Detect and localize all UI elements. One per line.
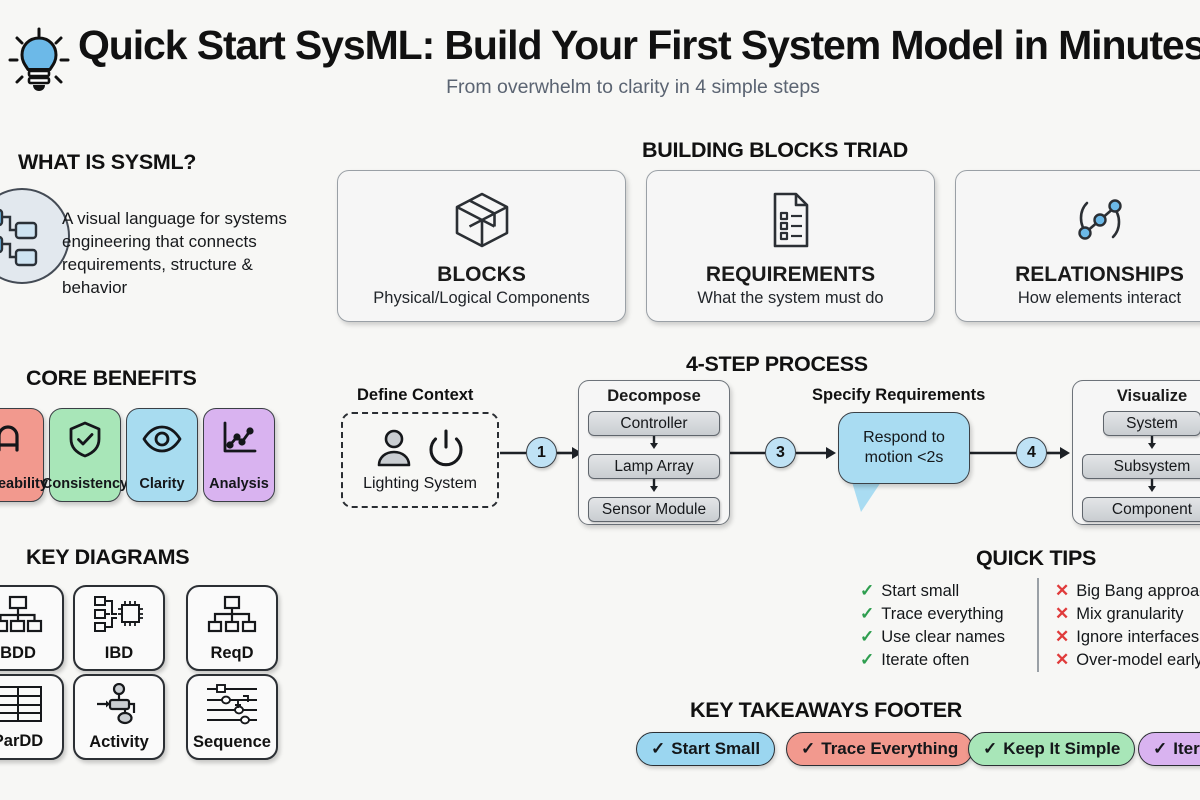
person-icon: [375, 428, 413, 473]
building-blocks-triad-heading: BUILDING BLOCKS TRIAD: [642, 138, 908, 163]
requirement-speech-bubble[interactable]: Respond to motion <2s: [838, 412, 970, 484]
page-subtitle: From overwhelm to clarity in 4 simple st…: [78, 76, 1188, 99]
chart-trend-icon: [218, 419, 260, 464]
step-badge-1[interactable]: 1: [526, 437, 557, 468]
triad-card-subtitle: Physical/Logical Components: [373, 289, 589, 308]
triad-card-title: BLOCKS: [437, 263, 526, 287]
cross-icon: ✕: [1055, 628, 1069, 645]
step3-caption: Specify Requirements: [812, 386, 985, 405]
benefit-label: Analysis: [209, 476, 269, 492]
process-heading: 4-STEP PROCESS: [686, 352, 868, 377]
tip-do-item: ✓ Start small: [860, 582, 1005, 605]
diagram-card-activity[interactable]: Activity: [73, 674, 165, 760]
tip-text: Over-model early: [1076, 651, 1200, 670]
cross-icon: ✕: [1055, 651, 1069, 668]
check-icon: ✓: [860, 628, 874, 645]
diagram-card-pardd[interactable]: ParDD: [0, 674, 64, 760]
check-icon: ✓: [860, 582, 874, 599]
check-icon: ✓: [801, 739, 815, 759]
eye-icon: [141, 419, 183, 464]
benefit-label: Clarity: [139, 476, 184, 492]
triad-card-blocks[interactable]: BLOCKS Physical/Logical Components: [337, 170, 626, 322]
step-badge-4[interactable]: 4: [1016, 437, 1047, 468]
triad-card-subtitle: What the system must do: [697, 289, 883, 308]
down-arrow-icon: [647, 436, 661, 449]
tip-text: Mix granularity: [1076, 605, 1183, 624]
cross-icon: ✕: [1055, 582, 1069, 599]
visualize-item[interactable]: Component: [1082, 497, 1200, 522]
lightbulb-icon: [2, 24, 76, 103]
context-label: Lighting System: [363, 475, 477, 493]
diagram-label: ParDD: [0, 732, 43, 751]
takeaway-label: Trace Everything: [821, 739, 958, 759]
tip-text: Use clear names: [881, 628, 1005, 647]
check-icon: ✓: [1153, 739, 1167, 759]
tip-do-item: ✓ Iterate often: [860, 651, 1005, 674]
bubble-line-1: Respond to: [863, 429, 945, 446]
takeaway-pill-keep-it-simple[interactable]: ✓ Keep It Simple: [968, 732, 1135, 766]
key-takeaways-heading: KEY TAKEAWAYS FOOTER: [690, 698, 962, 723]
bubble-line-2: motion <2s: [865, 449, 944, 466]
page-title: Quick Start SysML: Build Your First Syst…: [78, 22, 1200, 69]
decompose-item[interactable]: Lamp Array: [588, 454, 720, 479]
takeaway-pill-iterate[interactable]: ✓ Iterate: [1138, 732, 1200, 766]
power-icon: [427, 428, 465, 473]
tip-dont-item: ✕ Ignore interfaces: [1055, 628, 1200, 651]
quick-tips-heading: QUICK TIPS: [976, 546, 1096, 571]
tip-text: Trace everything: [881, 605, 1003, 624]
step-badge-3[interactable]: 3: [765, 437, 796, 468]
activity-flow-icon: [92, 683, 146, 730]
takeaway-label: Keep It Simple: [1003, 739, 1120, 759]
tip-do-item: ✓ Use clear names: [860, 628, 1005, 651]
diagram-card-bdd[interactable]: BDD: [0, 585, 64, 671]
diagram-card-sequence[interactable]: Sequence: [186, 674, 278, 760]
benefit-card-traceability[interactable]: Traceability: [0, 408, 44, 502]
nodes-link-icon: [1069, 189, 1131, 256]
infographic-canvas: Quick Start SysML: Build Your First Syst…: [0, 0, 1200, 800]
benefit-label: Traceability: [0, 476, 48, 492]
cube-icon: [451, 189, 513, 256]
tip-text: Iterate often: [881, 651, 969, 670]
tip-text: Ignore interfaces: [1076, 628, 1199, 647]
triad-card-relationships[interactable]: RELATIONSHIPS How elements interact: [955, 170, 1200, 322]
core-benefits-heading: CORE BENEFITS: [26, 366, 197, 391]
diagram-label: ReqD: [210, 644, 253, 663]
triad-card-requirements[interactable]: REQUIREMENTS What the system must do: [646, 170, 935, 322]
what-is-sysml-heading: WHAT IS SYSML?: [18, 150, 196, 175]
takeaway-pill-trace-everything[interactable]: ✓ Trace Everything: [786, 732, 973, 766]
diagram-card-ibd[interactable]: IBD: [73, 585, 165, 671]
diagram-label: IBD: [105, 644, 133, 663]
visualize-item[interactable]: System: [1103, 411, 1200, 436]
diagram-label: BDD: [0, 644, 36, 663]
down-arrow-icon: [647, 479, 661, 492]
internal-block-icon: [92, 594, 146, 641]
check-icon: ✓: [651, 739, 665, 759]
tips-divider: [1037, 578, 1039, 672]
diagram-label: Activity: [89, 733, 149, 752]
decompose-box[interactable]: Decompose Controller Lamp Array Sensor M…: [578, 380, 730, 525]
tip-text: Big Bang approach: [1076, 582, 1200, 601]
speech-bubble-tail: [852, 482, 881, 512]
cross-icon: ✕: [1055, 605, 1069, 622]
what-is-sysml-body: A visual language for systems engineerin…: [62, 207, 302, 299]
magnet-icon: [0, 419, 28, 464]
requirement-tree-icon: [205, 594, 259, 641]
step1-caption: Define Context: [357, 386, 473, 405]
takeaway-label: Iterate: [1173, 739, 1200, 759]
tip-dont-item: ✕ Over-model early: [1055, 651, 1200, 674]
tips-dont-list: ✕ Big Bang approach ✕ Mix granularity ✕ …: [1055, 582, 1200, 674]
tip-do-item: ✓ Trace everything: [860, 605, 1005, 628]
check-icon: ✓: [860, 605, 874, 622]
shield-check-icon: [65, 419, 105, 464]
key-diagrams-heading: KEY DIAGRAMS: [26, 545, 189, 570]
check-icon: ✓: [983, 739, 997, 759]
hierarchy-diagram-icon: [0, 188, 70, 284]
define-context-box[interactable]: Lighting System: [341, 412, 499, 508]
tip-text: Start small: [881, 582, 959, 601]
diagram-label: Sequence: [193, 733, 271, 752]
benefit-card-analysis[interactable]: Analysis: [203, 408, 275, 502]
tip-dont-item: ✕ Big Bang approach: [1055, 582, 1200, 605]
triad-card-title: REQUIREMENTS: [706, 263, 875, 287]
block-definition-tree-icon: [0, 594, 45, 641]
down-arrow-icon: [1145, 436, 1159, 449]
takeaway-label: Start Small: [671, 739, 760, 759]
sequence-lifeline-icon: [204, 683, 260, 730]
document-checklist-icon: [760, 189, 822, 256]
visualize-title: Visualize: [1073, 387, 1200, 406]
check-icon: ✓: [860, 651, 874, 668]
visualize-item[interactable]: Subsystem: [1082, 454, 1200, 479]
benefit-card-clarity[interactable]: Clarity: [126, 408, 198, 502]
down-arrow-icon: [1145, 479, 1159, 492]
decompose-item[interactable]: Controller: [588, 411, 720, 436]
decompose-item[interactable]: Sensor Module: [588, 497, 720, 522]
tips-do-list: ✓ Start small ✓ Trace everything ✓ Use c…: [860, 582, 1005, 674]
benefit-label: Consistency: [42, 476, 128, 492]
triad-card-title: RELATIONSHIPS: [1015, 263, 1184, 287]
diagram-card-reqd[interactable]: ReqD: [186, 585, 278, 671]
triad-card-subtitle: How elements interact: [1018, 289, 1181, 308]
table-grid-icon: [0, 684, 45, 729]
tip-dont-item: ✕ Mix granularity: [1055, 605, 1200, 628]
takeaway-pill-start-small[interactable]: ✓ Start Small: [636, 732, 775, 766]
benefit-card-consistency[interactable]: Consistency: [49, 408, 121, 502]
visualize-box[interactable]: Visualize System Subsystem Component: [1072, 380, 1200, 525]
decompose-title: Decompose: [579, 387, 729, 406]
